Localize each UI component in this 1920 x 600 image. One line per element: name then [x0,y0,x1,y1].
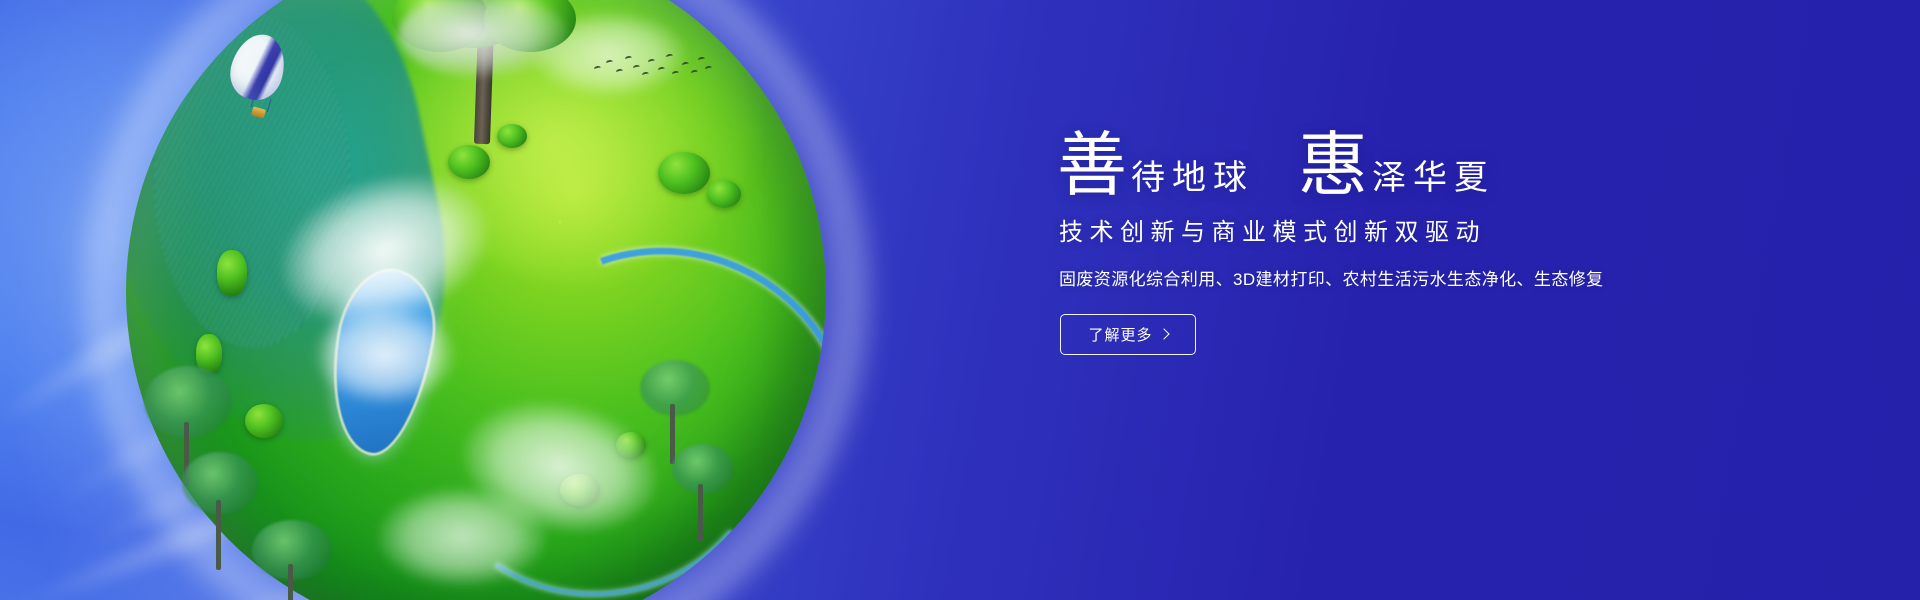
hero-text-block: 善待地球惠泽华夏 技术创新与商业模式创新双驱动 固废资源化综合利用、3D建材打印… [1057,132,1817,355]
surface-cloud [315,306,455,404]
top-tree-icon [388,0,588,144]
tree-trunk [288,564,293,600]
tree-canopy [640,360,710,416]
hot-air-balloon-icon [232,34,284,126]
headline-phrase2-rest: 泽华夏 [1372,160,1495,197]
page-subtitle: 技术创新与商业模式创新双驱动 [1059,212,1817,247]
tree-mist [398,0,568,78]
hero-banner: 善待地球惠泽华夏 技术创新与商业模式创新双驱动 固废资源化综合利用、3D建材打印… [0,0,1920,600]
tree-bush [448,145,490,179]
tree-bush [217,250,247,296]
headline-phrase1-lead: 善 [1057,128,1127,205]
page-title: 善待地球惠泽华夏 [1057,132,1817,202]
chevron-right-icon [1158,328,1169,339]
surface-cloud [378,488,546,586]
learn-more-label: 了解更多 [1088,324,1152,345]
tree-bush [707,180,741,208]
bird-flock-icon [592,50,712,90]
tree-trunk [698,484,703,542]
headline-phrase2-lead: 惠 [1298,128,1368,205]
learn-more-button[interactable]: 了解更多 [1060,314,1196,355]
tree-bush [245,404,283,438]
headline-phrase1-rest: 待地球 [1131,160,1254,197]
page-tagline: 固废资源化综合利用、3D建材打印、农村生活污水生态净化、生态修复 [1059,265,1817,290]
tree-trunk [216,500,221,570]
tree-bush [658,152,710,194]
tree-trunk [670,404,675,464]
tree-canopy [672,444,734,494]
